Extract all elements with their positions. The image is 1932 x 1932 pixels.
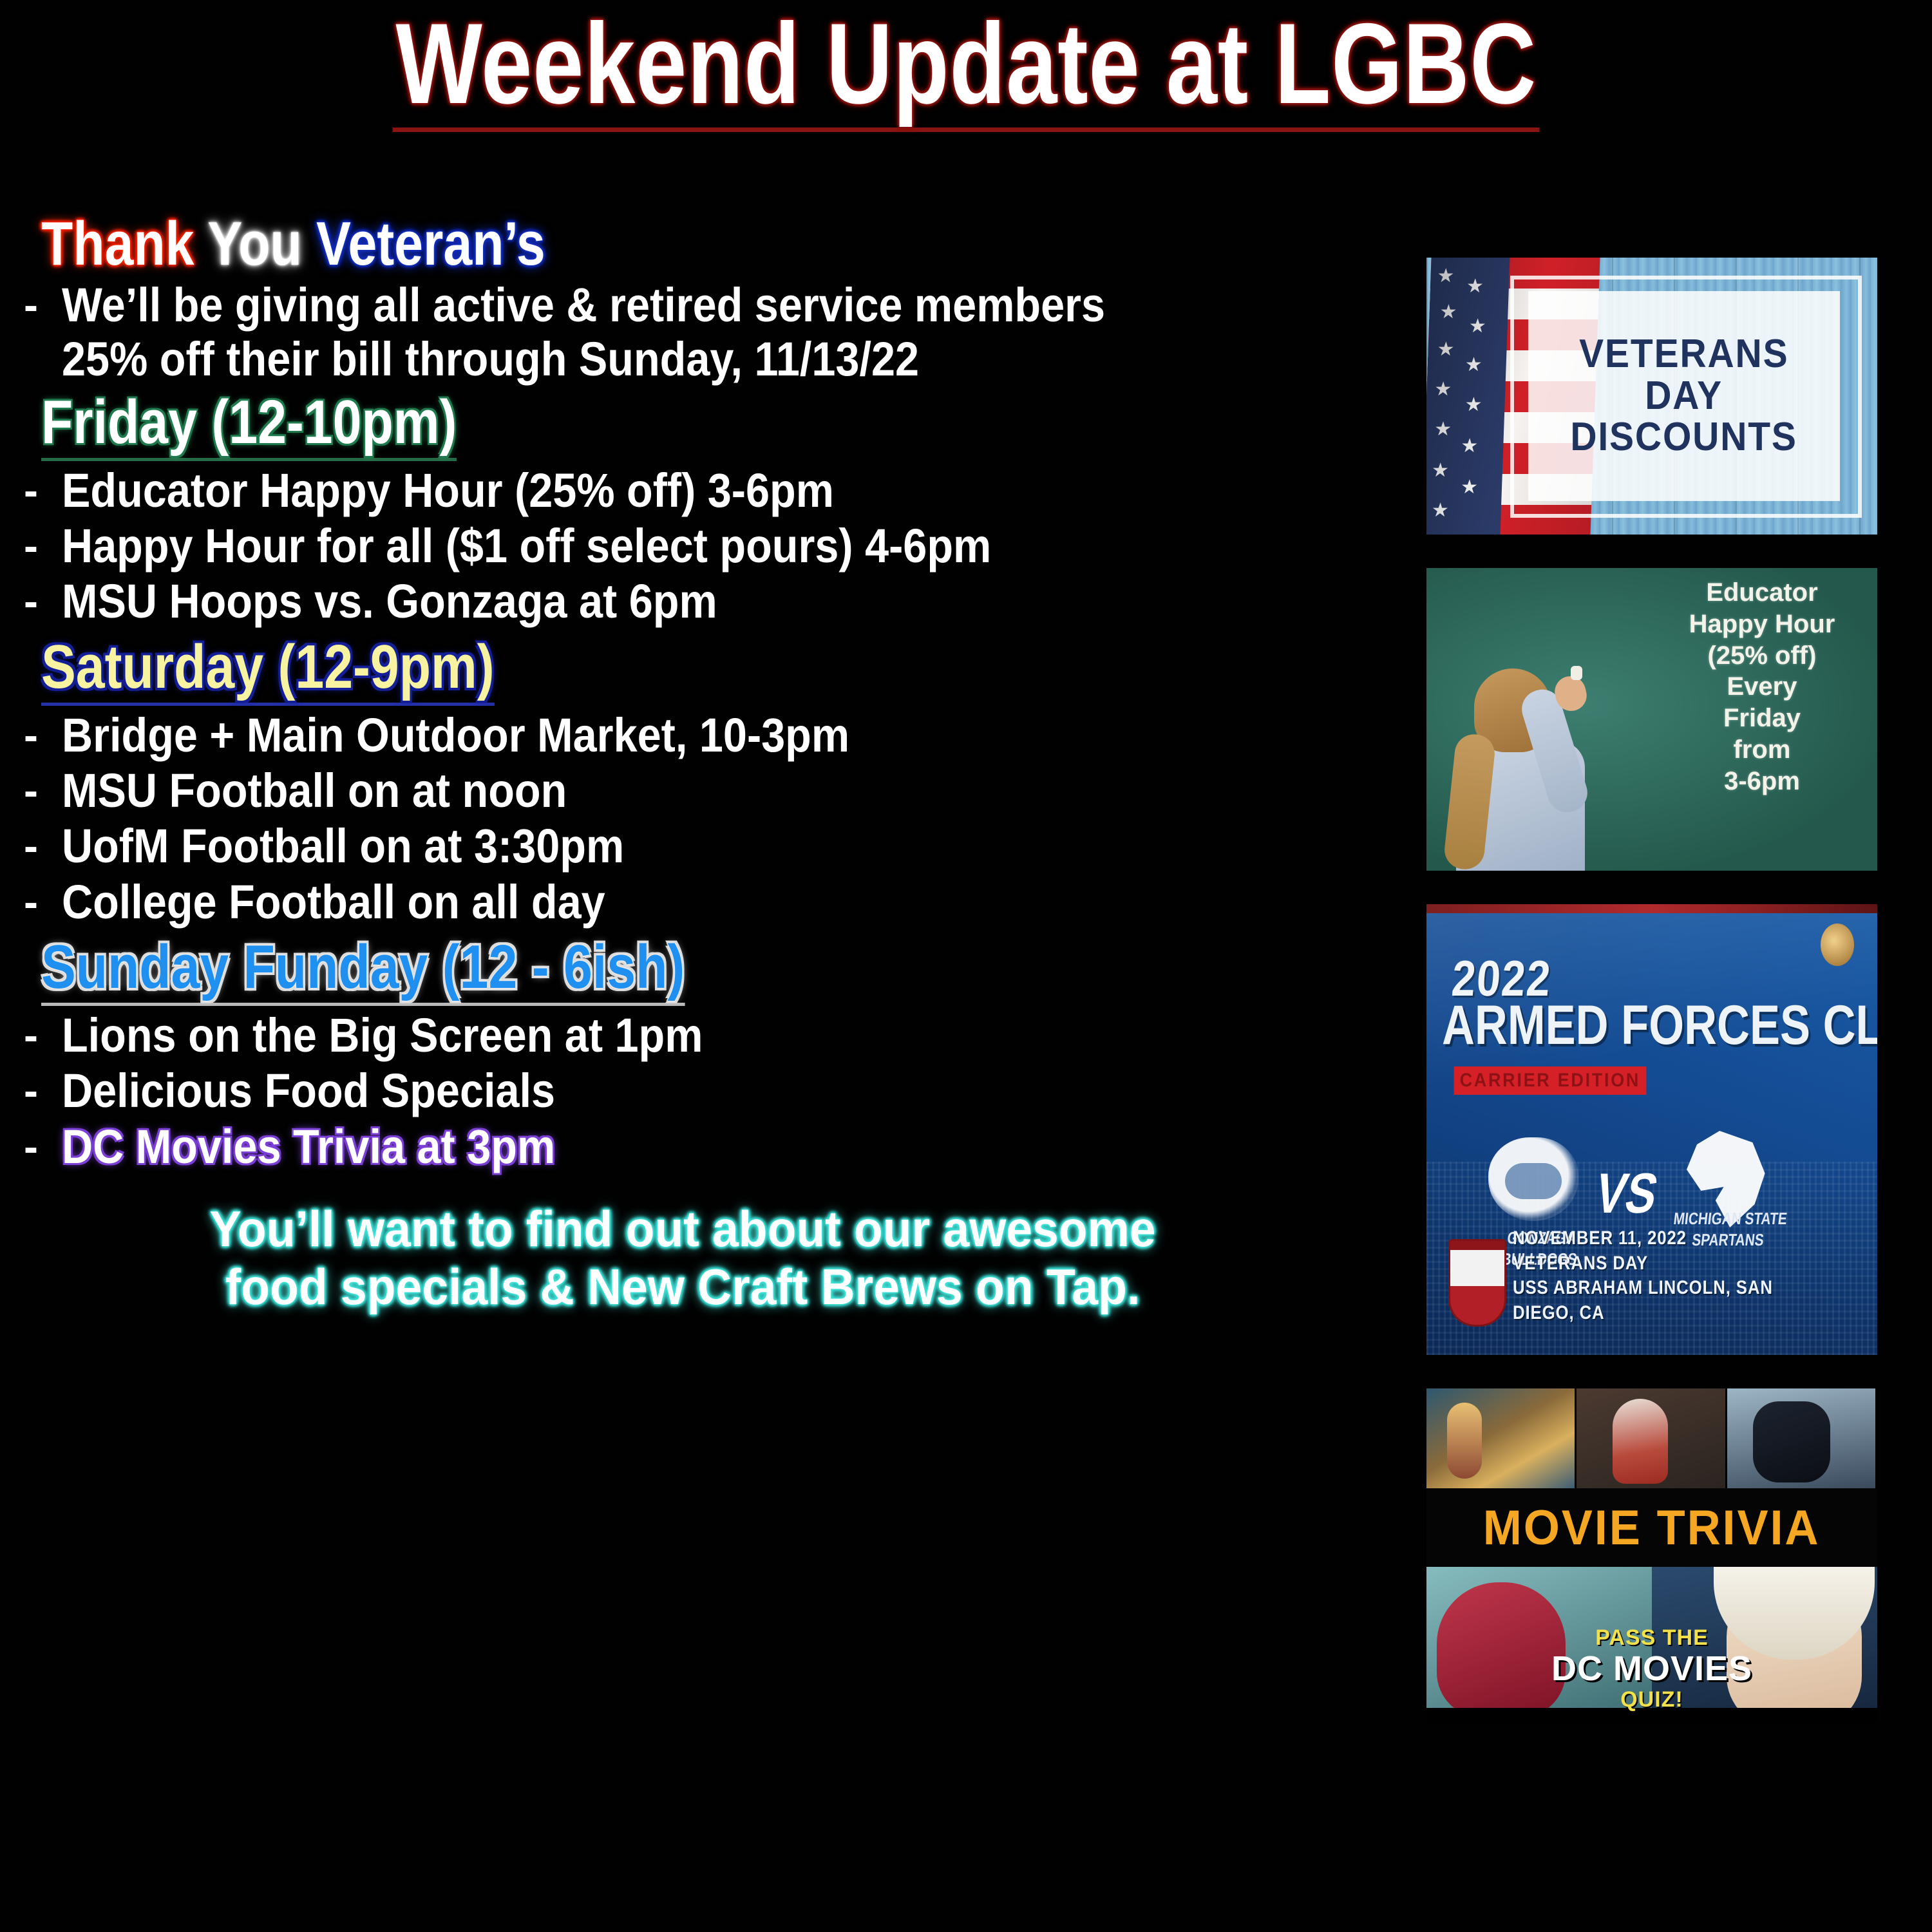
movie-trivia-banner: MOVIE TRIVIA [1426, 1488, 1877, 1567]
list-item: - Happy Hour for all ($1 off select pour… [0, 519, 1404, 573]
versus-label: VS [1589, 1160, 1664, 1226]
bullet-marker: - [0, 574, 62, 622]
armed-forces-shield-icon [1448, 1239, 1506, 1327]
dc-quiz-overlay: PASS THE DC MOVIES QUIZ! [1426, 1627, 1877, 1710]
bullet-marker: - [0, 1120, 62, 1168]
gonzaga-bulldog-icon [1488, 1137, 1578, 1221]
veterans-line-2: DAY [1645, 375, 1723, 417]
page-title: Weekend Update at LGBC [392, 6, 1539, 132]
quiz-line-1: PASS THE [1426, 1627, 1877, 1649]
closing-message: You’ll want to find out about our awesom… [41, 1200, 1325, 1316]
promo-veterans-day-discounts: ★ ★ ★ ★ ★ ★ ★ ★ ★ ★ ★ ★ ★ VETERANS DAY D… [1426, 258, 1877, 535]
heading-word-thank: Thank [41, 209, 207, 278]
promo-image-column: ★ ★ ★ ★ ★ ★ ★ ★ ★ ★ ★ ★ ★ VETERANS DAY D… [1426, 258, 1877, 1757]
section-heading-saturday: Saturday (12-9pm) [41, 636, 495, 706]
page-header: Weekend Update at LGBC [0, 6, 1932, 132]
movie-panels-top [1426, 1388, 1877, 1488]
bullet-label: Happy Hour for all ($1 off select pours)… [62, 519, 991, 573]
section-heading-veterans: Thank You Veteran’s [41, 213, 545, 276]
bullet-label: UofM Football on at 3:30pm [62, 819, 624, 873]
bullet-label: Delicious Food Specials [62, 1064, 555, 1118]
list-item: - College Football on all day [0, 875, 1404, 929]
list-item: - Bridge + Main Outdoor Market, 10-3pm [0, 708, 1404, 762]
bullet-label: MSU Football on at noon [62, 764, 567, 818]
movie-trivia-label: MOVIE TRIVIA [1483, 1500, 1821, 1556]
chalk-icon [1571, 666, 1582, 680]
quiz-line-2: DC MOVIES [1426, 1651, 1877, 1686]
basketball-icon [1821, 923, 1854, 966]
bullet-marker: - [0, 819, 62, 867]
section-heading-friday: Friday (12-10pm) [41, 391, 457, 461]
list-item: - UofM Football on at 3:30pm [0, 819, 1404, 873]
bullet-label: Educator Happy Hour (25% off) 3-6pm [62, 464, 834, 518]
section-heading-sunday: Sunday Funday (12 - 6ish) [41, 936, 685, 1006]
poster-title: ARMED FORCES CLASSIC [1442, 999, 1792, 1052]
section-saturday: Saturday (12-9pm) - Bridge + Main Outdoo… [0, 636, 1404, 929]
bullet-marker: - [0, 1009, 62, 1056]
list-item: - MSU Football on at noon [0, 764, 1404, 818]
bullet-label: College Football on all day [62, 875, 605, 929]
section-friday: Friday (12-10pm) - Educator Happy Hour (… [0, 391, 1404, 629]
wonder-woman-panel [1426, 1388, 1577, 1488]
list-item: - DC Movies Trivia at 3pm [0, 1120, 1404, 1174]
bullet-label: MSU Hoops vs. Gonzaga at 6pm [62, 574, 717, 629]
section-veterans: Thank You Veteran’s - We’ll be giving al… [0, 213, 1404, 387]
list-item: - Educator Happy Hour (25% off) 3-6pm [0, 464, 1404, 518]
bullet-marker: - [0, 464, 62, 511]
batman-returns-panel [1727, 1388, 1877, 1488]
bullet-marker: - [0, 764, 62, 811]
heading-word-you: You [207, 209, 316, 278]
bullet-marker: - [0, 278, 62, 326]
bullet-marker: - [0, 1064, 62, 1112]
bullet-marker: - [0, 875, 62, 923]
bullet-label: Lions on the Big Screen at 1pm [62, 1009, 703, 1063]
teacher-illustration [1444, 626, 1605, 871]
veterans-line-1: VETERANS [1579, 334, 1788, 375]
promo-movie-trivia: MOVIE TRIVIA PASS THE DC MOVIES QUIZ! [1426, 1388, 1877, 1723]
joker-panel [1577, 1388, 1727, 1488]
list-item: - MSU Hoops vs. Gonzaga at 6pm [0, 574, 1404, 629]
poster-subtitle: CARRIER EDITION [1454, 1066, 1647, 1095]
list-item: - We’ll be giving all active & retired s… [0, 278, 1404, 387]
promo-educator-happy-hour: Educator Happy Hour (25% off) Every Frid… [1426, 568, 1877, 871]
veterans-text-box: VETERANS DAY DISCOUNTS [1528, 291, 1840, 501]
bullet-label-dc-trivia: DC Movies Trivia at 3pm [62, 1120, 555, 1174]
quiz-line-3: QUIZ! [1426, 1689, 1877, 1710]
list-item: - Lions on the Big Screen at 1pm [0, 1009, 1404, 1063]
bullet-marker: - [0, 708, 62, 756]
bullet-label: Bridge + Main Outdoor Market, 10-3pm [62, 708, 849, 762]
educator-chalk-text: Educator Happy Hour (25% off) Every Frid… [1656, 577, 1868, 797]
poster-top-band [1426, 904, 1877, 913]
poster-event-info: NOVEMBER 11, 2022 VETERANS DAY USS ABRAH… [1513, 1226, 1826, 1325]
bullet-label: We’ll be giving all active & retired ser… [62, 278, 1105, 387]
bullet-marker: - [0, 519, 62, 567]
content-column: Thank You Veteran’s - We’ll be giving al… [0, 213, 1404, 1316]
veterans-line-3: DISCOUNTS [1571, 417, 1797, 458]
heading-word-veterans: Veteran’s [316, 209, 545, 278]
section-sunday: Sunday Funday (12 - 6ish) - Lions on the… [0, 936, 1404, 1174]
promo-armed-forces-classic: 2022 ARMED FORCES CLASSIC CARRIER EDITIO… [1426, 904, 1877, 1355]
list-item: - Delicious Food Specials [0, 1064, 1404, 1118]
